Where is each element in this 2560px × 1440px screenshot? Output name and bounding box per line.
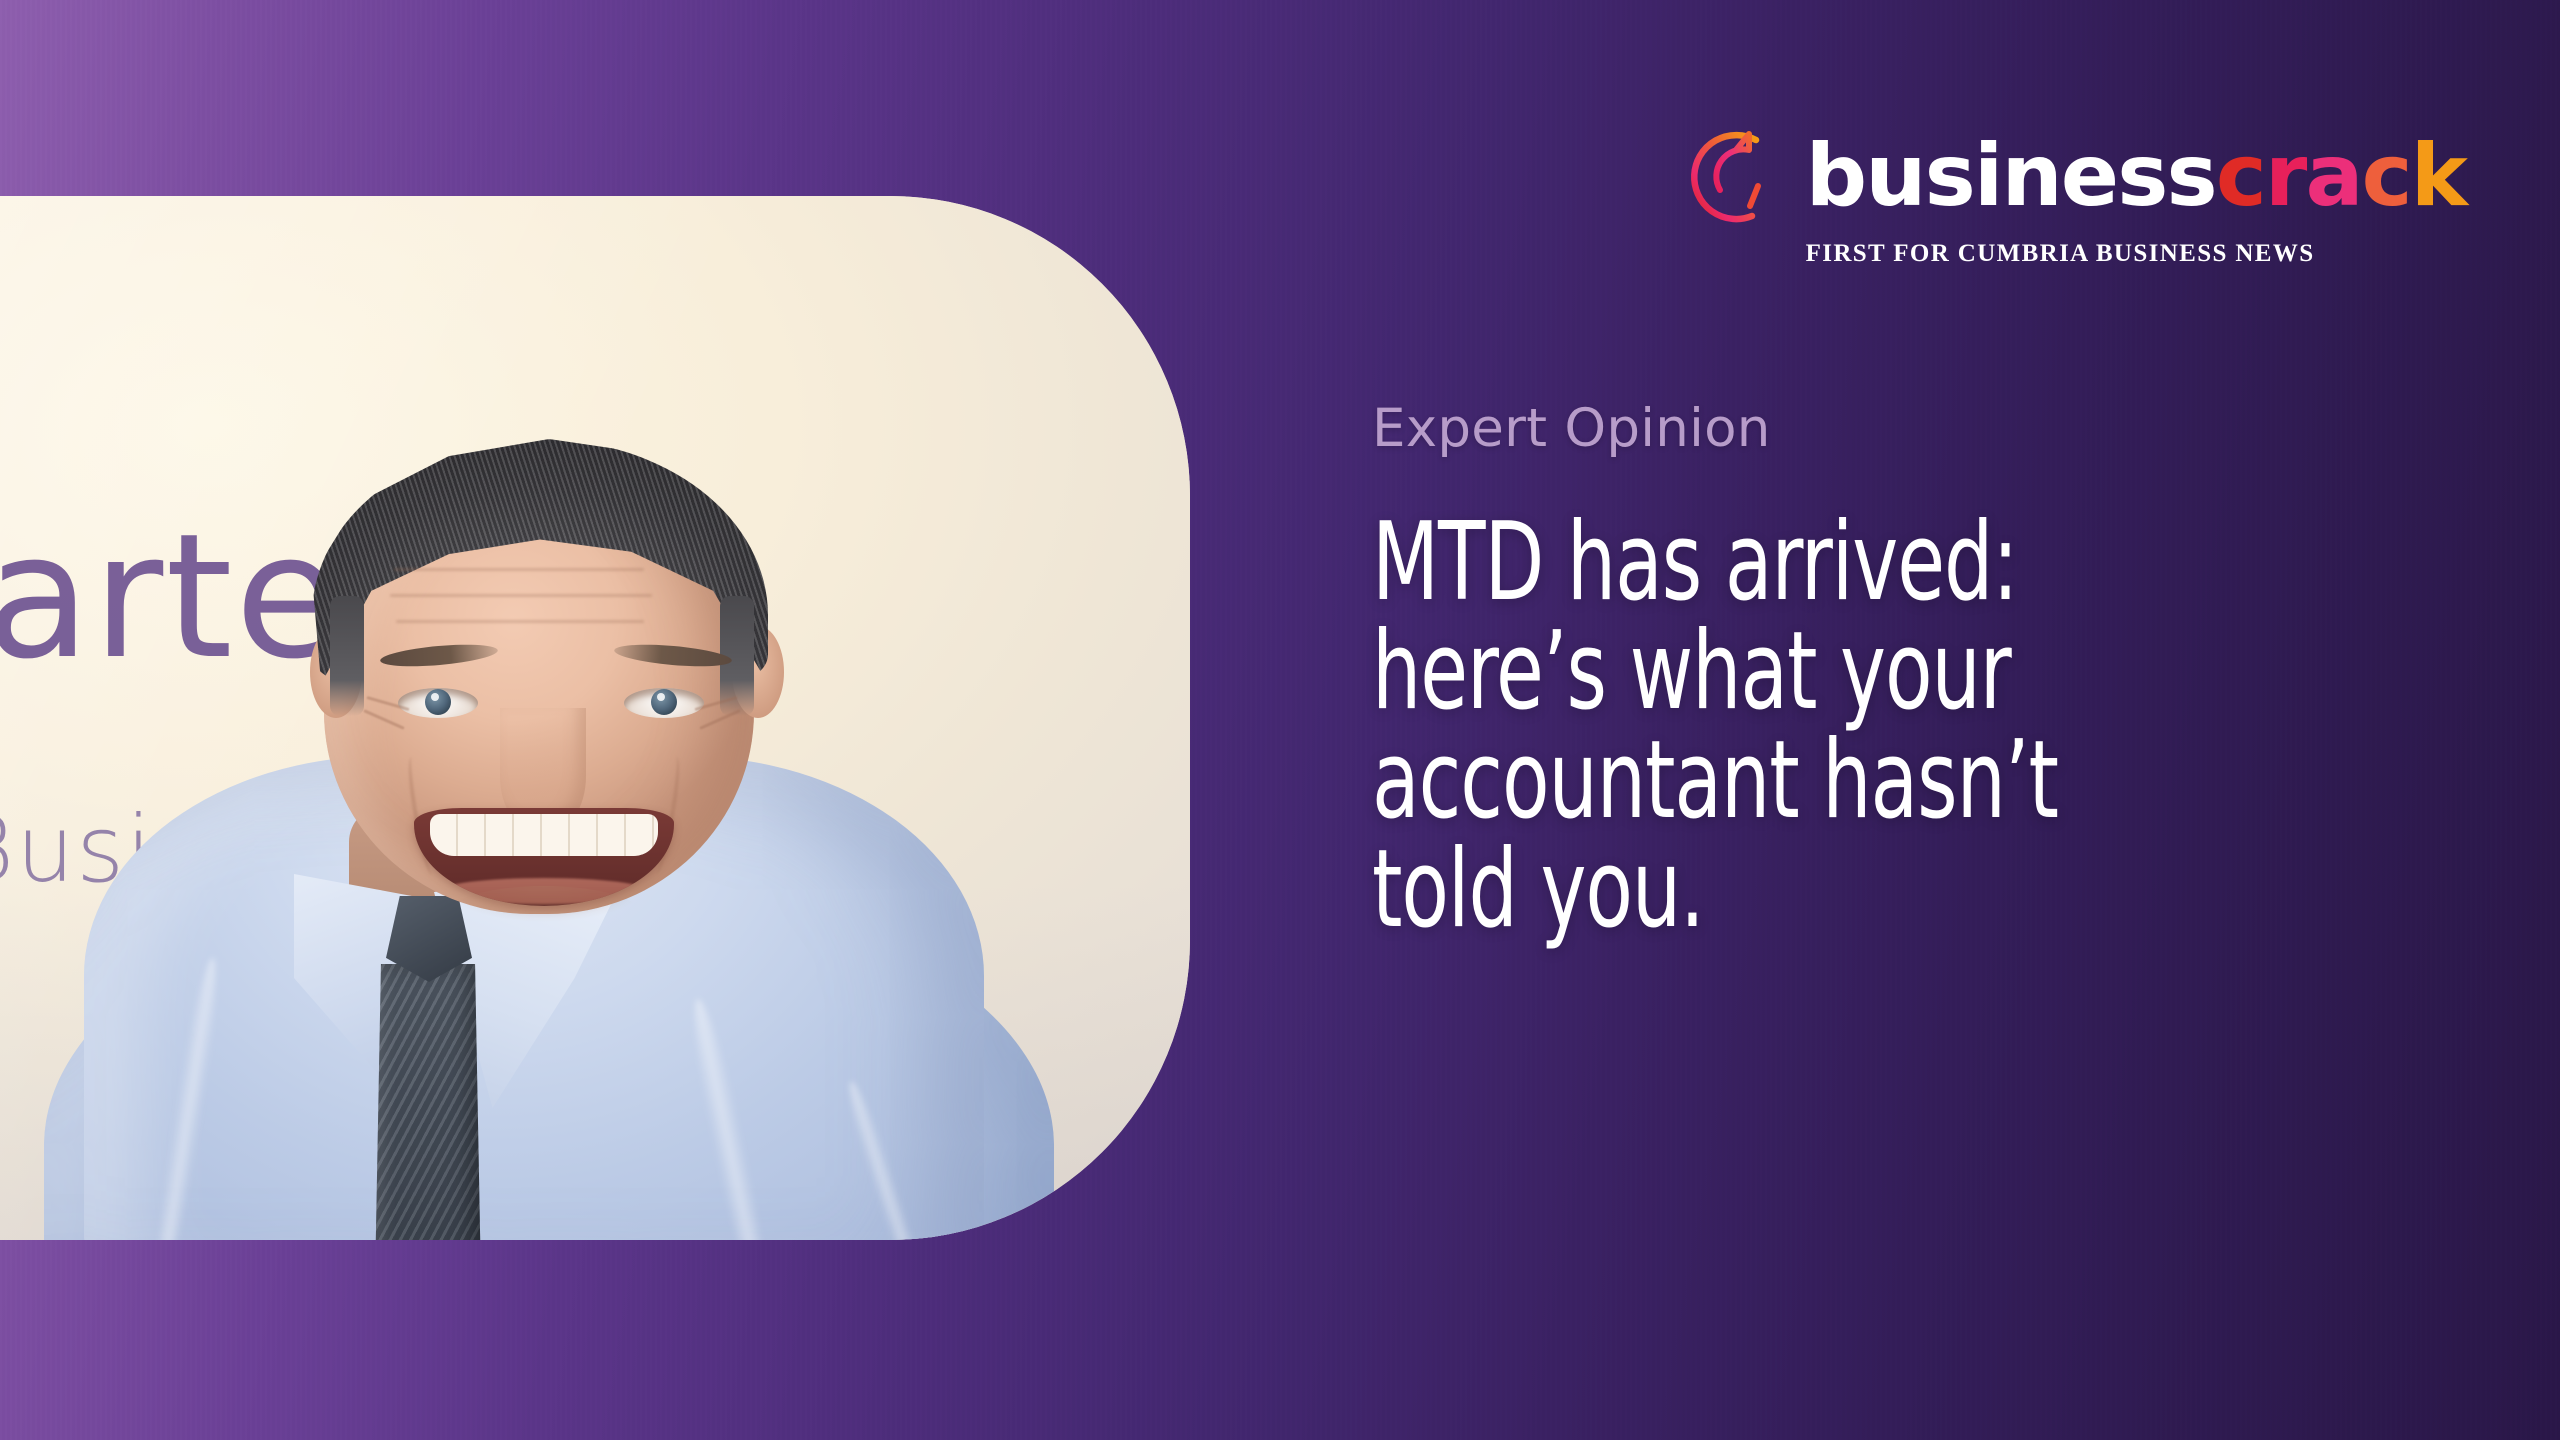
subject-chin-shadow xyxy=(444,886,644,946)
logo-letter-k: k xyxy=(2411,135,2466,218)
forehead-crease xyxy=(390,594,652,597)
iris xyxy=(651,689,677,715)
subject-tie xyxy=(372,964,484,1240)
logo-letter-r: r xyxy=(2265,135,2306,218)
subject-sideburn-left xyxy=(330,596,364,716)
content-column: businesscrack FIRST FOR CUMBRIA BUSINESS… xyxy=(1372,0,2560,1440)
logo-wordmark: businesscrack xyxy=(1806,135,2466,218)
logo-letter-c2: c xyxy=(2362,135,2411,218)
brand-logo[interactable]: businesscrack FIRST FOR CUMBRIA BUSINESS… xyxy=(1684,120,2466,268)
subject-eye-right xyxy=(624,688,704,718)
logo-letter-a: a xyxy=(2305,135,2361,218)
promo-graphic-canvas: hartered Business Advisers xyxy=(0,0,2560,1440)
logo-row: businesscrack xyxy=(1684,120,2466,232)
forehead-crease xyxy=(394,568,644,571)
iris xyxy=(425,689,451,715)
logo-word-crack: crack xyxy=(2216,126,2466,226)
subject-eye-left xyxy=(398,688,478,718)
businesscrack-c-monogram-icon xyxy=(1684,120,1792,232)
portrait-subject xyxy=(0,196,1190,1240)
teeth xyxy=(430,814,659,856)
article-kicker: Expert Opinion xyxy=(1372,398,1771,459)
forehead-crease xyxy=(396,620,644,623)
logo-word-business: business xyxy=(1806,126,2216,226)
article-headline: MTD has arrived: here’s what your accoun… xyxy=(1372,508,2220,944)
logo-tagline: FIRST FOR CUMBRIA BUSINESS NEWS xyxy=(1806,240,2315,268)
logo-letter-c1: c xyxy=(2216,135,2265,218)
portrait-photo-card: hartered Business Advisers xyxy=(0,196,1190,1240)
